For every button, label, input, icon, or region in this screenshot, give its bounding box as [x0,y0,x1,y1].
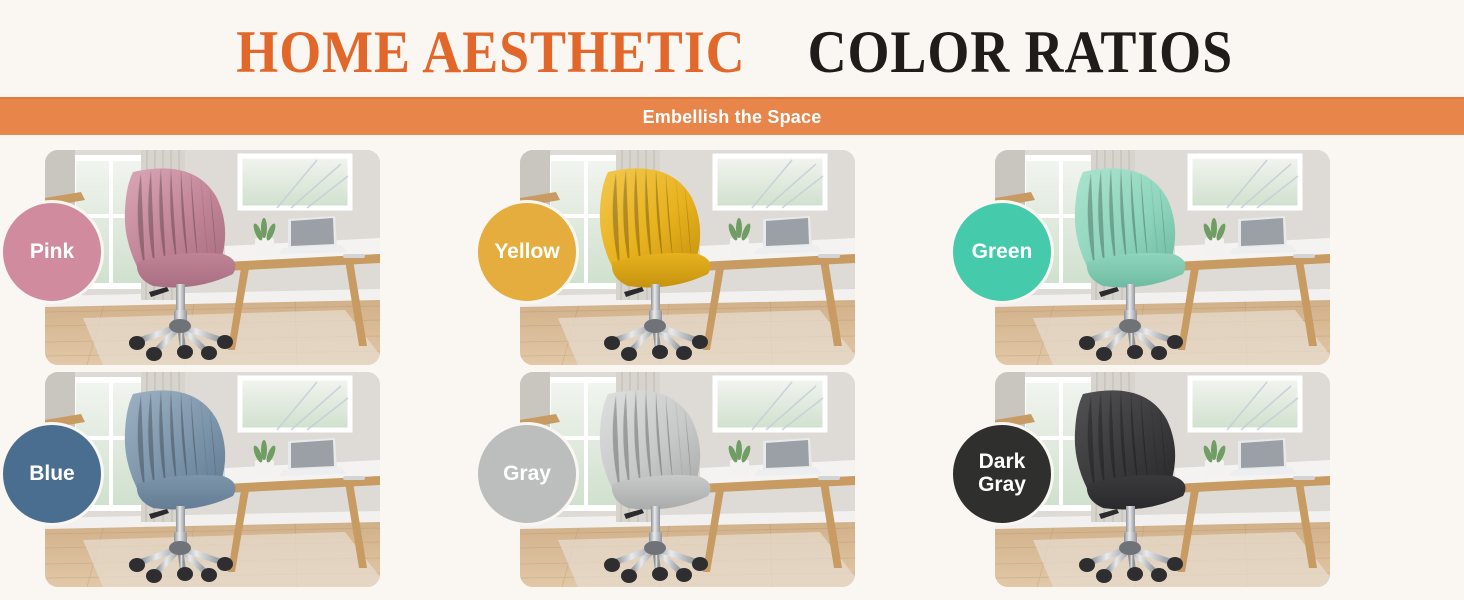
color-badge[interactable]: Yellow [475,200,579,304]
color-swatch-cell[interactable]: DarkGray [950,372,1330,587]
color-badge[interactable]: Green [950,200,1054,304]
color-badge-label: DarkGray [978,451,1026,496]
color-swatch-cell[interactable]: Gray [475,372,855,587]
page-title-secondary: COLOR RATIOS [807,22,1232,82]
subtitle-text: Embellish the Space [643,107,822,128]
color-badge-label: Blue [29,463,75,486]
color-swatch-cell[interactable]: Pink [0,150,380,365]
color-badge[interactable]: Blue [0,422,104,526]
page-title: HOME AESTHETICCOLOR RATIOS [0,22,1464,82]
color-badge[interactable]: Pink [0,200,104,304]
color-badge-label: Green [972,241,1033,264]
color-badge-label: Yellow [494,241,559,264]
color-swatch-cell[interactable]: Yellow [475,150,855,365]
color-badge[interactable]: DarkGray [950,422,1054,526]
page-title-primary: HOME AESTHETIC [236,22,745,82]
color-badge-label: Pink [30,241,74,264]
color-swatch-cell[interactable]: Blue [0,372,380,587]
color-swatch-cell[interactable]: Green [950,150,1330,365]
color-badge-label: Gray [503,463,551,486]
color-badge[interactable]: Gray [475,422,579,526]
subtitle-banner: Embellish the Space [0,97,1464,135]
color-swatch-grid: Pink [0,150,1464,580]
